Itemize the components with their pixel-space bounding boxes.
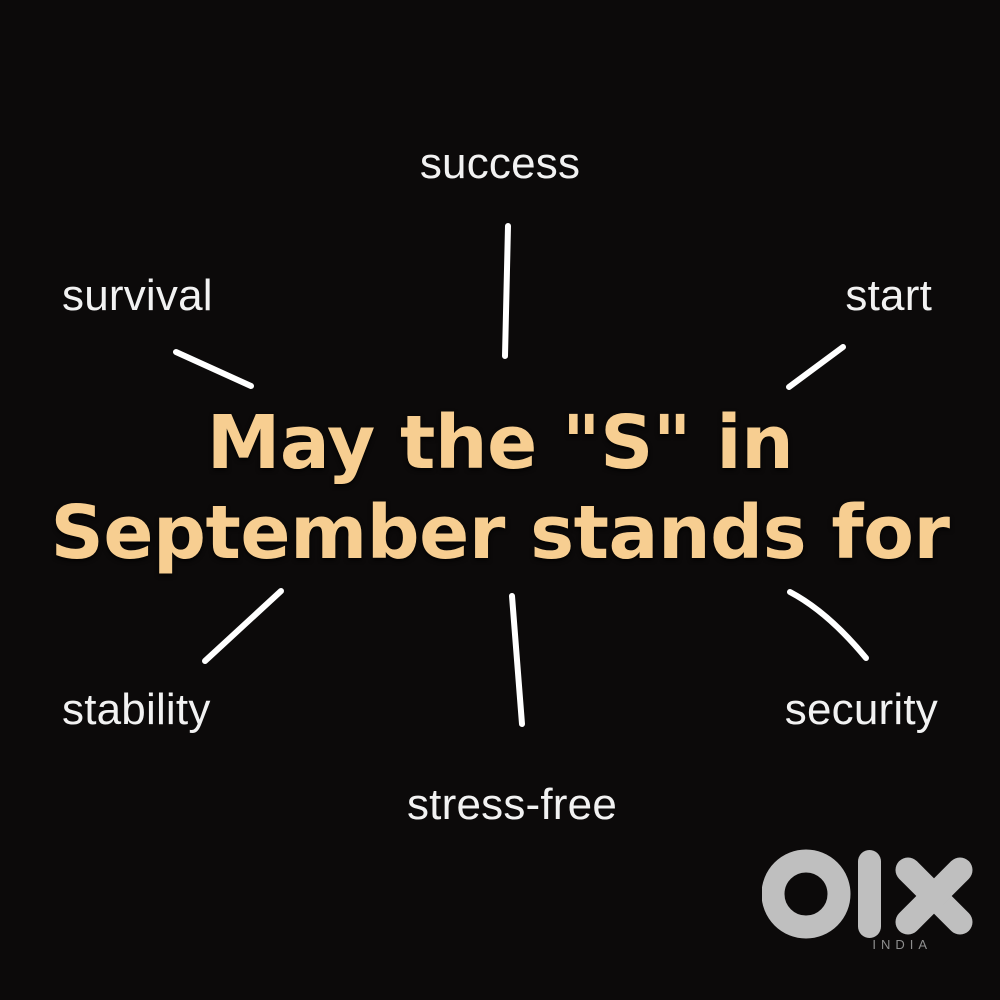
connector-line-stress-free bbox=[512, 596, 522, 724]
headline-line-2: September stands for bbox=[50, 488, 950, 578]
keyword-label-stress-free: stress-free bbox=[407, 783, 617, 827]
keyword-label-success: success bbox=[420, 142, 580, 186]
olx-logo-icon bbox=[762, 848, 974, 940]
keyword-label-survival: survival bbox=[62, 274, 213, 318]
connector-line-stability bbox=[205, 591, 281, 661]
connector-line-success bbox=[505, 226, 508, 356]
olx-logo-letter-l bbox=[858, 850, 881, 938]
connector-line-security bbox=[790, 592, 866, 658]
connector-line-survival bbox=[176, 352, 251, 386]
connector-line-start bbox=[789, 347, 843, 387]
keyword-label-stability: stability bbox=[62, 688, 211, 732]
headline-text: May the "S" in September stands for bbox=[50, 398, 950, 578]
olx-watermark: INDIA bbox=[762, 848, 974, 958]
olx-watermark-subtitle: INDIA bbox=[872, 937, 932, 952]
headline-line-1: May the "S" in bbox=[50, 398, 950, 488]
olx-logo-letter-x bbox=[908, 870, 960, 922]
keyword-label-security: security bbox=[785, 688, 938, 732]
keyword-label-start: start bbox=[845, 274, 932, 318]
poster-canvas: success survival start stability securit… bbox=[0, 0, 1000, 1000]
olx-logo-letter-o bbox=[773, 861, 839, 927]
